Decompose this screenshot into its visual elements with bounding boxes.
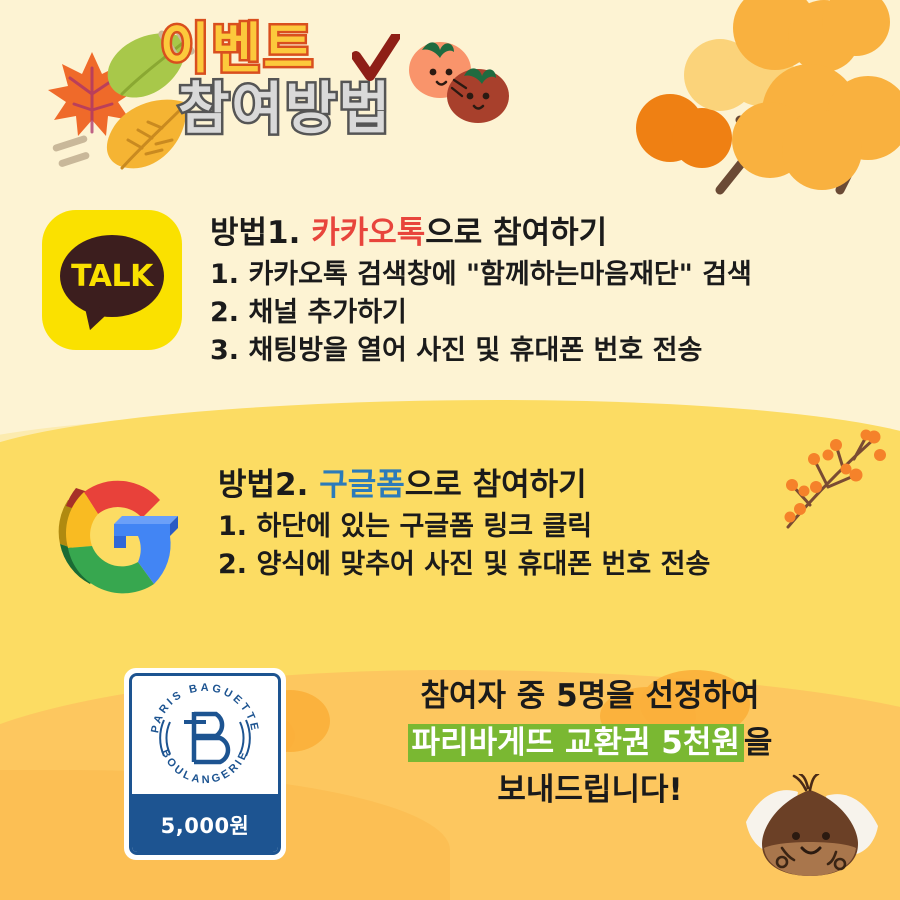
- autumn-tree-icon: [610, 0, 900, 200]
- paris-baguette-logo-icon: PARIS BAGUETTE BOULANGERIE: [140, 676, 270, 794]
- method-googleform-step: 2. 양식에 맞추어 사진 및 휴대폰 번호 전송: [218, 546, 710, 584]
- giftcard-amount: 5,000원: [161, 810, 250, 840]
- method-googleform-heading-accent: 구글폼: [319, 467, 405, 503]
- method-googleform-step: 1. 하단에 있는 구글폼 링크 클릭: [218, 508, 710, 546]
- svg-text:BOULANGERIE: BOULANGERIE: [159, 748, 251, 787]
- giftcard-logo-area: PARIS BAGUETTE BOULANGERIE: [132, 676, 278, 794]
- kakaotalk-logo: TALK: [42, 210, 182, 350]
- method-kakaotalk-step: 3. 채팅방을 열어 사진 및 휴대폰 번호 전송: [210, 332, 752, 370]
- prize-highlight-tail: 을: [744, 725, 773, 761]
- berry-branch-icon: [770, 425, 890, 535]
- giftcard-amount-band: 5,000원: [132, 794, 278, 855]
- check-mark-icon: [352, 34, 400, 86]
- method-kakaotalk: TALK 방법1. 카카오톡으로 참여하기 1. 카카오톡 검색창에 "함께하는…: [42, 210, 752, 371]
- event-poster: 이벤트 참여방법: [0, 0, 900, 900]
- method-googleform-heading-suffix: 으로 참여하기: [405, 467, 587, 503]
- kakaotalk-logo-text: TALK: [71, 259, 153, 294]
- method-kakaotalk-heading-suffix: 으로 참여하기: [425, 215, 607, 251]
- method-kakaotalk-heading-accent: 카카오톡: [311, 215, 425, 251]
- method-kakaotalk-step: 1. 카카오톡 검색창에 "함께하는마음재단" 검색: [210, 256, 752, 294]
- prize-highlight: 파리바게뜨 교환권 5천원: [408, 724, 744, 762]
- method-googleform-heading-prefix: 방법2.: [218, 467, 319, 503]
- method-kakaotalk-step: 2. 채널 추가하기: [210, 294, 752, 332]
- svg-text:PARIS BAGUETTE: PARIS BAGUETTE: [149, 682, 261, 734]
- poster-header: 이벤트 참여방법: [0, 0, 900, 195]
- method-googleform-text: 방법2. 구글폼으로 참여하기 1. 하단에 있는 구글폼 링크 클릭 2. 양…: [218, 462, 710, 584]
- prize-line-1: 참여자 중 5명을 선정하여: [320, 674, 860, 719]
- paris-baguette-giftcard: PARIS BAGUETTE BOULANGERIE: [124, 668, 286, 860]
- persimmon-character-icon: [400, 30, 520, 140]
- method-kakaotalk-heading-prefix: 방법1.: [210, 215, 311, 251]
- method-kakaotalk-text: 방법1. 카카오톡으로 참여하기 1. 카카오톡 검색창에 "함께하는마음재단"…: [210, 210, 752, 371]
- method-googleform: 방법2. 구글폼으로 참여하기 1. 하단에 있는 구글폼 링크 클릭 2. 양…: [42, 462, 710, 614]
- method-googleform-heading: 방법2. 구글폼으로 참여하기: [218, 466, 710, 506]
- chestnut-character-icon: [736, 774, 886, 886]
- prize-line-2: 파리바게뜨 교환권 5천원을: [320, 721, 860, 766]
- google-logo: [42, 462, 190, 614]
- method-kakaotalk-heading: 방법1. 카카오톡으로 참여하기: [210, 214, 752, 254]
- motion-line-icon: [58, 151, 91, 168]
